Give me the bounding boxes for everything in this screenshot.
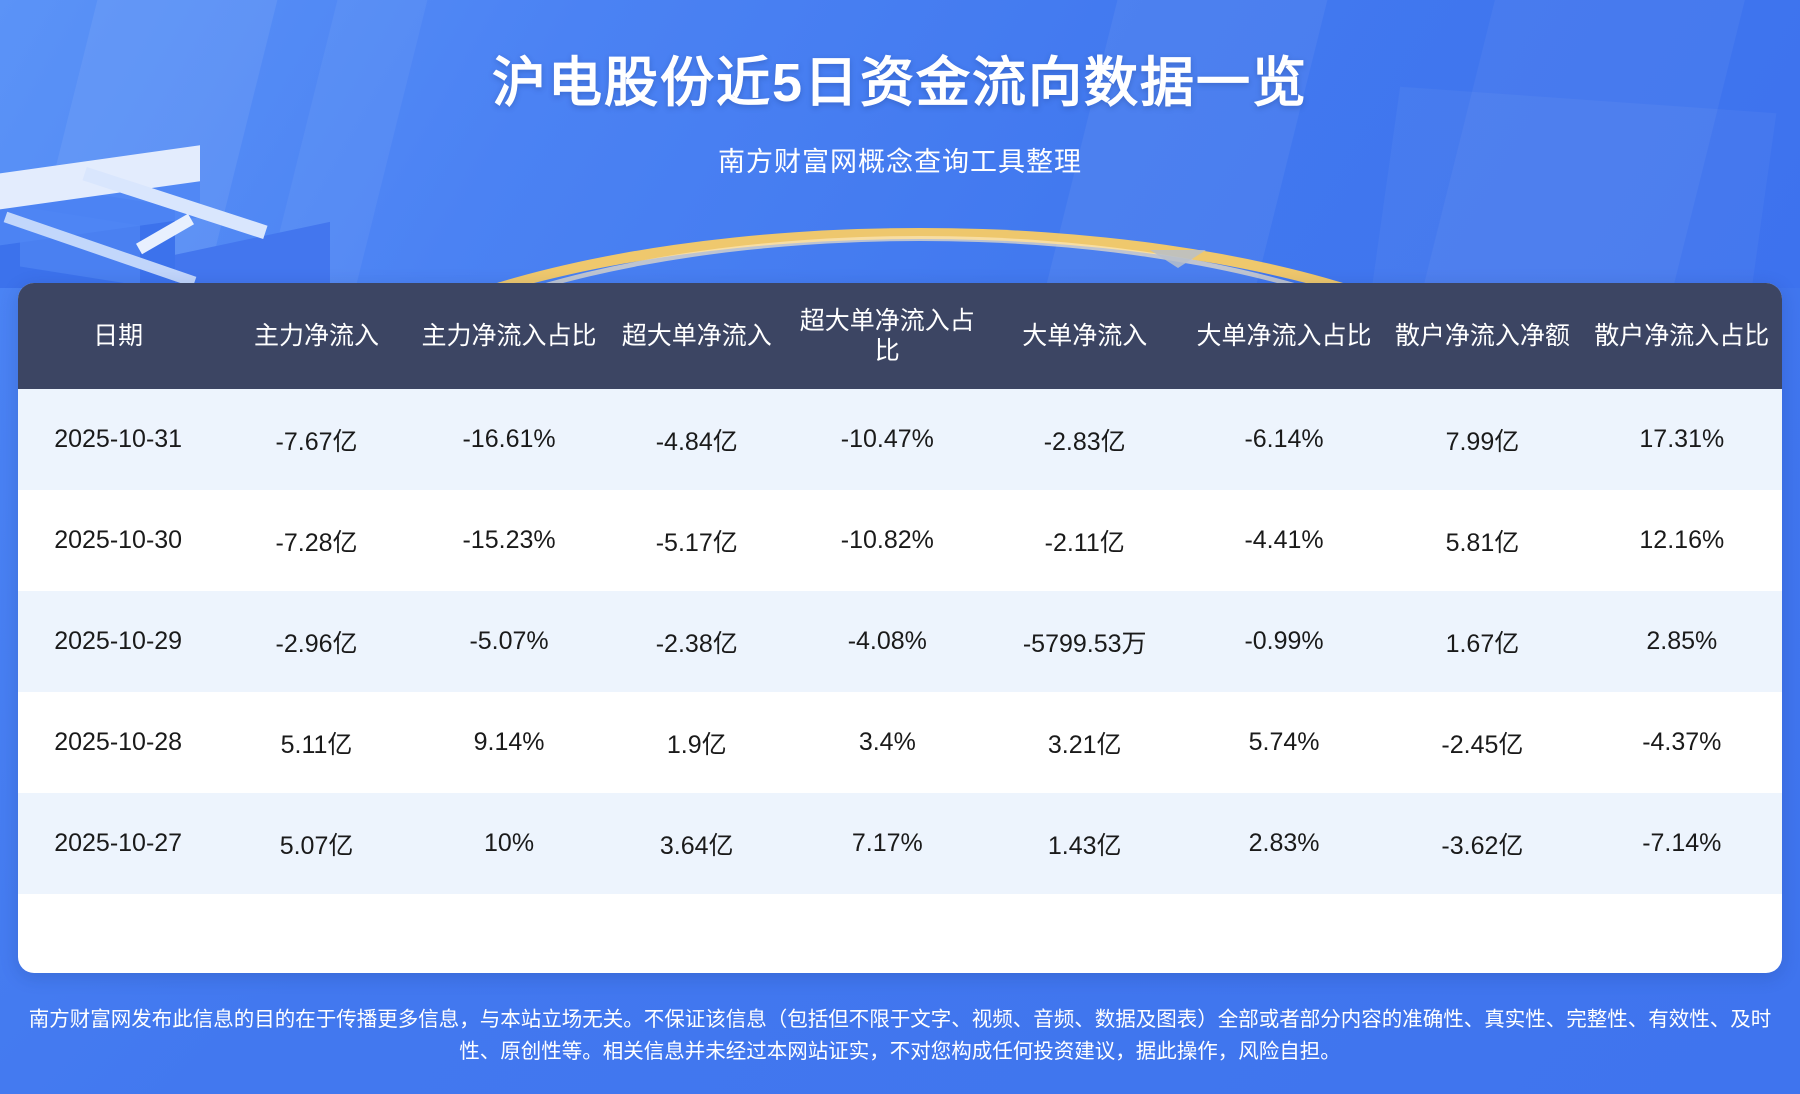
column-header-retail-pct[interactable]: 散户净流入占比 [1582,283,1782,389]
cell-lg-net: 1.43亿 [985,793,1185,894]
column-header-retail-net[interactable]: 散户净流入净额 [1383,283,1581,389]
cell-main-net: -2.96亿 [218,591,414,692]
column-header-main-pct[interactable]: 主力净流入占比 [415,283,604,389]
cell-date: 2025-10-31 [18,389,218,490]
cell-xl-pct: -10.82% [790,490,984,591]
column-header-lg-net[interactable]: 大单净流入 [985,283,1185,389]
table-row[interactable]: 2025-10-31 -7.67亿 -16.61% -4.84亿 -10.47%… [18,389,1782,490]
cell-main-net: 5.11亿 [218,692,414,793]
cell-xl-pct: 3.4% [790,692,984,793]
cell-lg-pct: 5.74% [1185,692,1383,793]
cell-xl-pct: 7.17% [790,793,984,894]
column-header-lg-pct[interactable]: 大单净流入占比 [1185,283,1383,389]
cell-retail-net: -3.62亿 [1383,793,1581,894]
cell-lg-pct: -0.99% [1185,591,1383,692]
cell-xl-net: -2.38亿 [603,591,790,692]
column-header-date[interactable]: 日期 [18,283,218,389]
table-row[interactable]: 2025-10-27 5.07亿 10% 3.64亿 7.17% 1.43亿 2… [18,793,1782,894]
cell-retail-pct: -4.37% [1582,692,1782,793]
header-banner: 沪电股份近5日资金流向数据一览 南方财富网概念查询工具整理 [0,0,1800,288]
cell-main-pct: -15.23% [415,490,604,591]
page-root: 沪电股份近5日资金流向数据一览 南方财富网概念查询工具整理 南方财富网 Sout… [0,0,1800,1094]
cell-retail-net: 5.81亿 [1383,490,1581,591]
cell-retail-pct: -7.14% [1582,793,1782,894]
cell-retail-pct: 17.31% [1582,389,1782,490]
table-row[interactable]: 2025-10-29 -2.96亿 -5.07% -2.38亿 -4.08% -… [18,591,1782,692]
triangle-notch-icon [1150,250,1206,268]
cell-main-net: -7.28亿 [218,490,414,591]
cell-date: 2025-10-30 [18,490,218,591]
cell-lg-net: -2.11亿 [985,490,1185,591]
cell-xl-net: -4.84亿 [603,389,790,490]
cell-xl-pct: -4.08% [790,591,984,692]
table-row[interactable]: 2025-10-28 5.11亿 9.14% 1.9亿 3.4% 3.21亿 5… [18,692,1782,793]
cell-date: 2025-10-28 [18,692,218,793]
table-header-row: 日期 主力净流入 主力净流入占比 超大单净流入 超大单净流入占比 大单净流入 大… [18,283,1782,389]
cell-retail-pct: 2.85% [1582,591,1782,692]
cell-main-net: 5.07亿 [218,793,414,894]
cell-lg-pct: -6.14% [1185,389,1383,490]
cell-lg-pct: 2.83% [1185,793,1383,894]
cell-main-pct: -16.61% [415,389,604,490]
table-body: 2025-10-31 -7.67亿 -16.61% -4.84亿 -10.47%… [18,389,1782,894]
cell-lg-pct: -4.41% [1185,490,1383,591]
cell-date: 2025-10-29 [18,591,218,692]
cell-lg-net: -2.83亿 [985,389,1185,490]
cell-main-pct: 10% [415,793,604,894]
cell-retail-pct: 12.16% [1582,490,1782,591]
cell-main-pct: -5.07% [415,591,604,692]
cell-xl-net: 1.9亿 [603,692,790,793]
column-header-main-net[interactable]: 主力净流入 [218,283,414,389]
table-header: 日期 主力净流入 主力净流入占比 超大单净流入 超大单净流入占比 大单净流入 大… [18,283,1782,389]
column-header-xl-net[interactable]: 超大单净流入 [603,283,790,389]
table-row[interactable]: 2025-10-30 -7.28亿 -15.23% -5.17亿 -10.82%… [18,490,1782,591]
disclaimer-text: 南方财富网发布此信息的目的在于传播更多信息，与本站立场无关。不保证该信息（包括但… [0,990,1800,1094]
fund-flow-table: 日期 主力净流入 主力净流入占比 超大单净流入 超大单净流入占比 大单净流入 大… [18,283,1782,894]
cell-lg-net: -5799.53万 [985,591,1185,692]
cell-retail-net: -2.45亿 [1383,692,1581,793]
cell-lg-net: 3.21亿 [985,692,1185,793]
cell-main-pct: 9.14% [415,692,604,793]
cell-xl-net: 3.64亿 [603,793,790,894]
cell-main-net: -7.67亿 [218,389,414,490]
page-title: 沪电股份近5日资金流向数据一览 [0,38,1800,117]
cell-xl-pct: -10.47% [790,389,984,490]
cell-retail-net: 7.99亿 [1383,389,1581,490]
cell-retail-net: 1.67亿 [1383,591,1581,692]
page-subtitle: 南方财富网概念查询工具整理 [0,140,1800,179]
data-table-card: 南方财富网 Southmoney.com 日期 主力净流入 主力净流入占比 超大… [18,283,1782,973]
column-header-xl-pct[interactable]: 超大单净流入占比 [790,283,984,389]
cell-xl-net: -5.17亿 [603,490,790,591]
cell-date: 2025-10-27 [18,793,218,894]
